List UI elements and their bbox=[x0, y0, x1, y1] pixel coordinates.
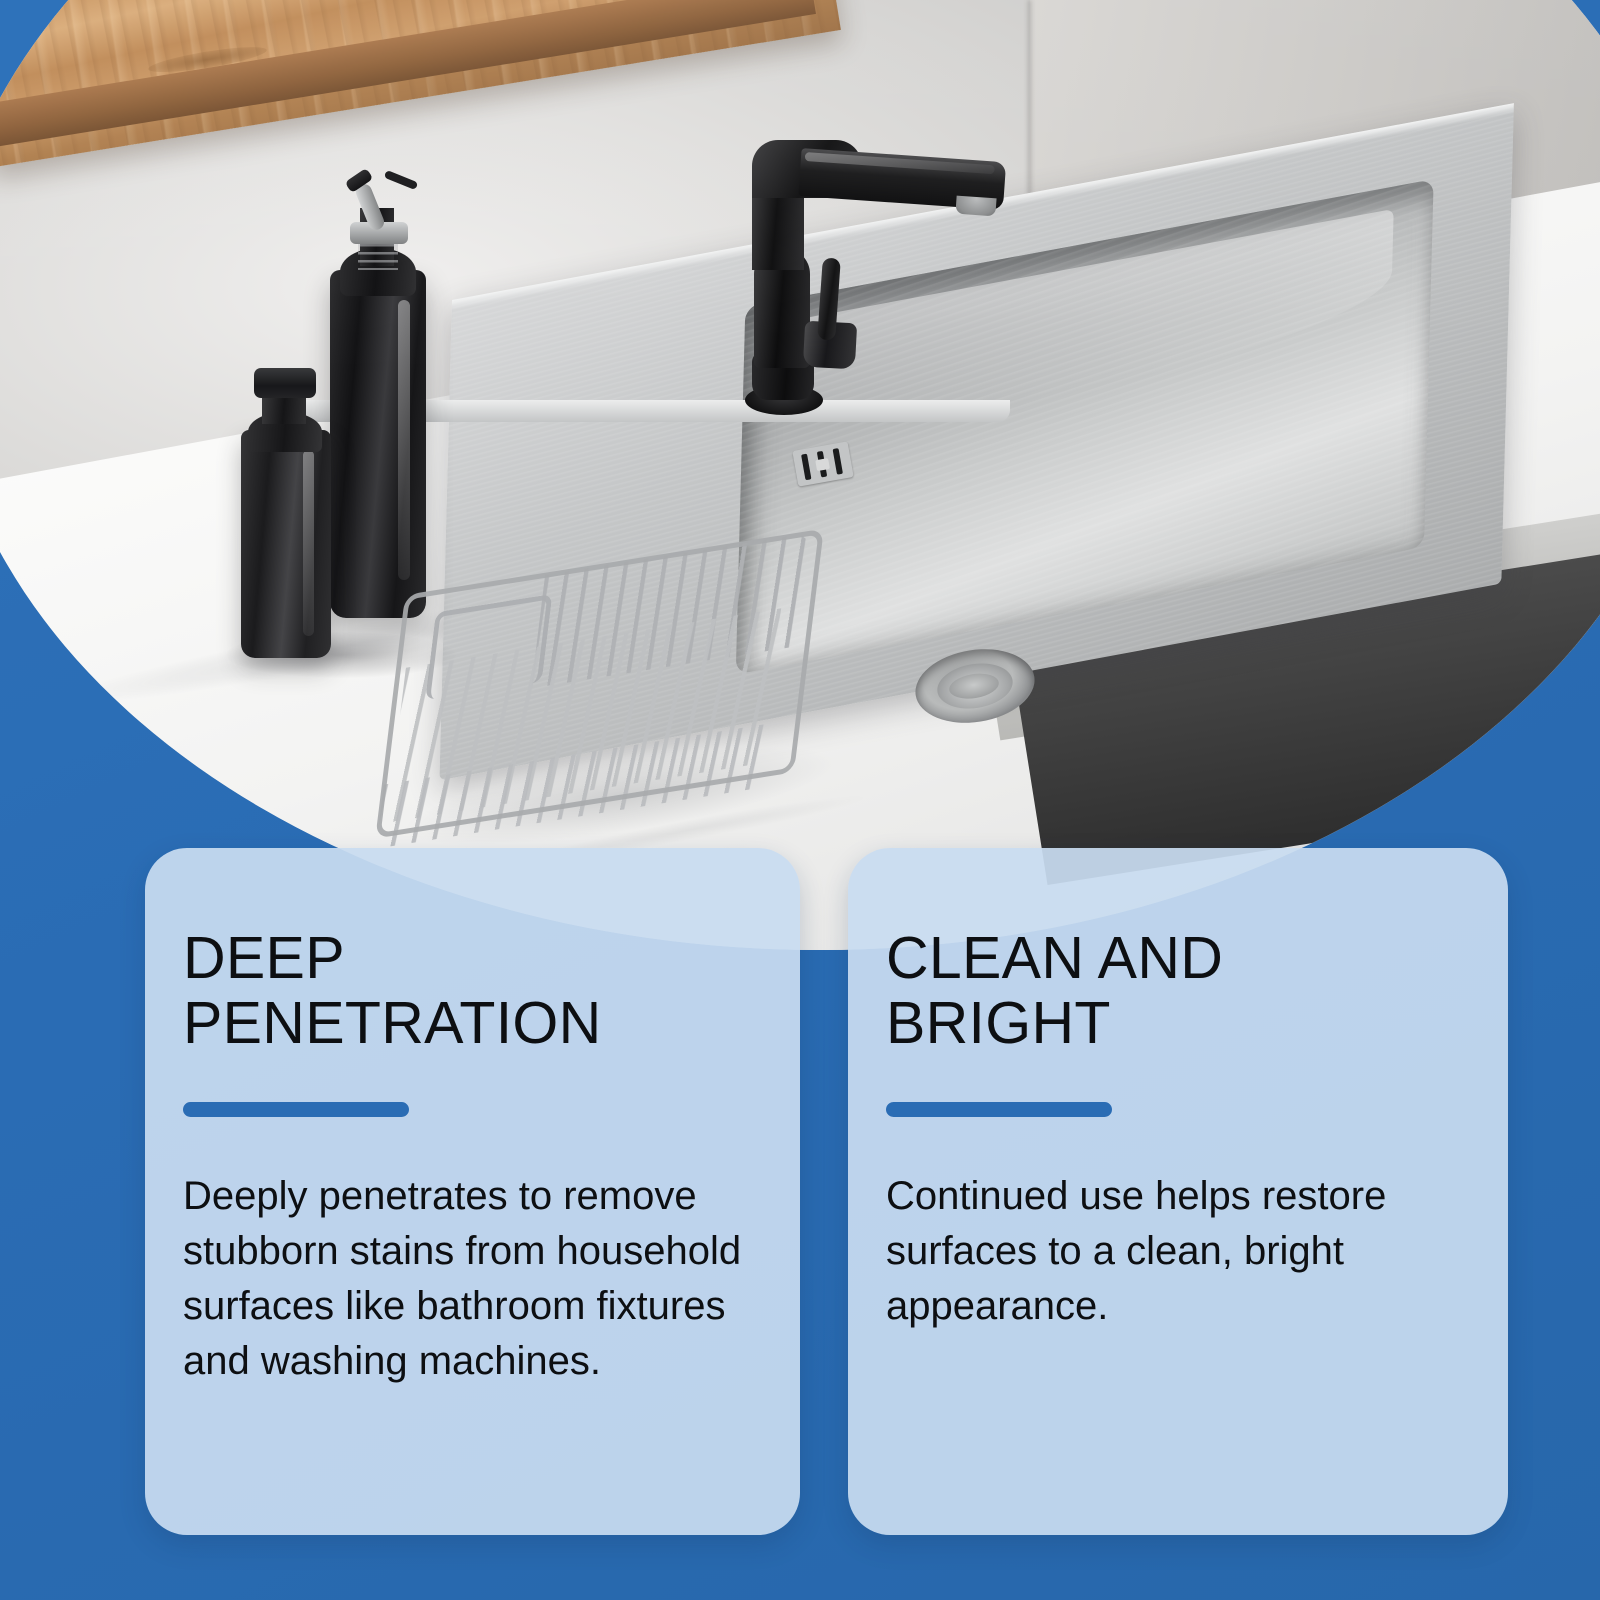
accent-bar bbox=[183, 1102, 409, 1117]
card-body-text: Deeply penetrates to remove stubborn sta… bbox=[183, 1169, 743, 1390]
card-body-text: Continued use helps restore surfaces to … bbox=[886, 1169, 1446, 1335]
feature-cards: DEEP PENETRATION Deeply penetrates to re… bbox=[0, 0, 1600, 1600]
accent-bar bbox=[886, 1102, 1112, 1117]
feature-card-deep-penetration: DEEP PENETRATION Deeply penetrates to re… bbox=[145, 848, 800, 1535]
card-title: DEEP PENETRATION bbox=[183, 926, 754, 1056]
feature-card-clean-and-bright: CLEAN AND BRIGHT Continued use helps res… bbox=[848, 848, 1508, 1535]
card-title: CLEAN AND BRIGHT bbox=[886, 926, 1462, 1056]
infographic-root: DEEP PENETRATION Deeply penetrates to re… bbox=[0, 0, 1600, 1600]
